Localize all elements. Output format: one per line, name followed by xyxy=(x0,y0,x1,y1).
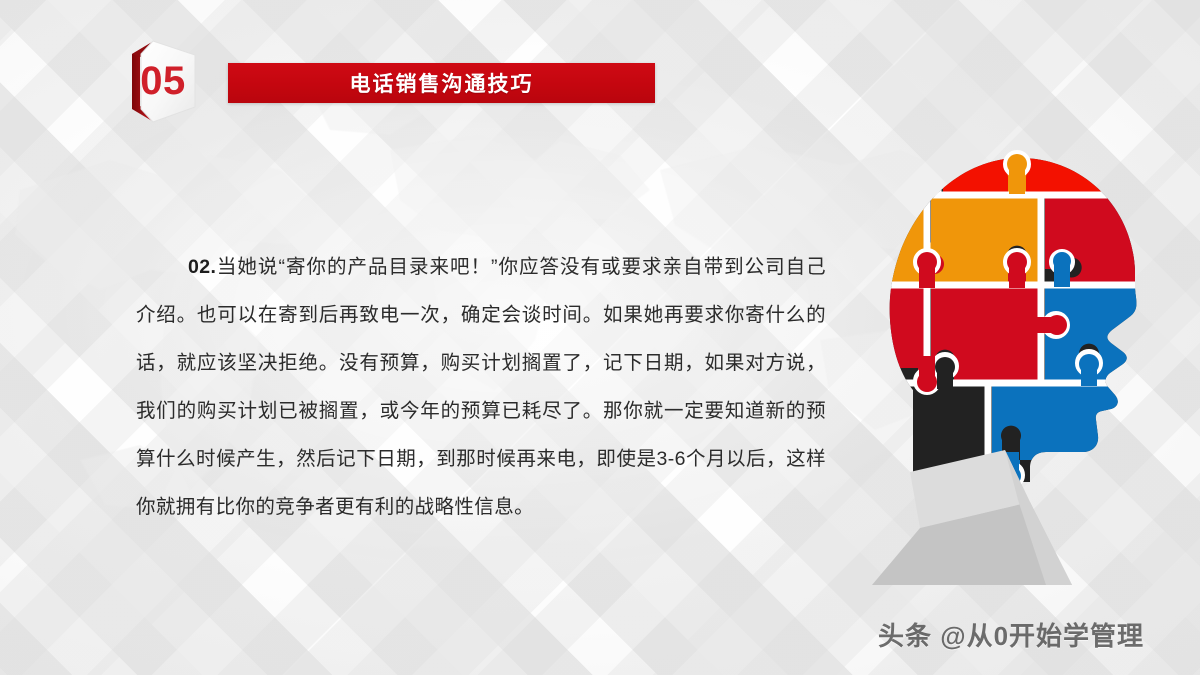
knob-crimson-side-stem xyxy=(1036,317,1058,333)
slide-canvas: 05 电话销售沟通技巧 02.当她说“寄你的产品目录来吧！”你应答没有或要求亲自… xyxy=(0,0,1200,675)
knob-blue-cheek-stem xyxy=(1081,364,1097,386)
puzzle-piece-red-top xyxy=(943,140,1140,192)
knob-crimson-lower-stem xyxy=(919,356,935,382)
knob-blue-small-stem xyxy=(1054,261,1070,287)
puzzle-head-svg xyxy=(840,130,1200,610)
section-title-banner: 电话销售沟通技巧 xyxy=(228,63,655,103)
body-paragraph: 02.当她说“寄你的产品目录来吧！”你应答没有或要求亲自带到公司自己介绍。也可以… xyxy=(136,243,826,531)
puzzle-piece-crimson-topleft xyxy=(880,140,936,192)
knob-orange-top-stem xyxy=(1009,164,1025,194)
section-title-text: 电话销售沟通技巧 xyxy=(350,68,534,98)
knob-crimson-left-stem xyxy=(919,262,935,288)
paragraph-text: 当她说“寄你的产品目录来吧！”你应答没有或要求亲自带到公司自己介绍。也可以在寄到… xyxy=(136,256,826,518)
puzzle-head-illustration xyxy=(840,130,1200,610)
item-number: 02. xyxy=(188,256,216,278)
section-number-label: 05 xyxy=(102,30,210,132)
knob-crimson-mid-stem xyxy=(1009,262,1025,288)
slide-header: 05 电话销售沟通技巧 xyxy=(0,0,1200,140)
section-number-badge: 05 xyxy=(102,30,210,132)
watermark-attribution: 头条 @从0开始学管理 xyxy=(878,612,1178,656)
knob-black-jaw-stem xyxy=(937,367,953,389)
